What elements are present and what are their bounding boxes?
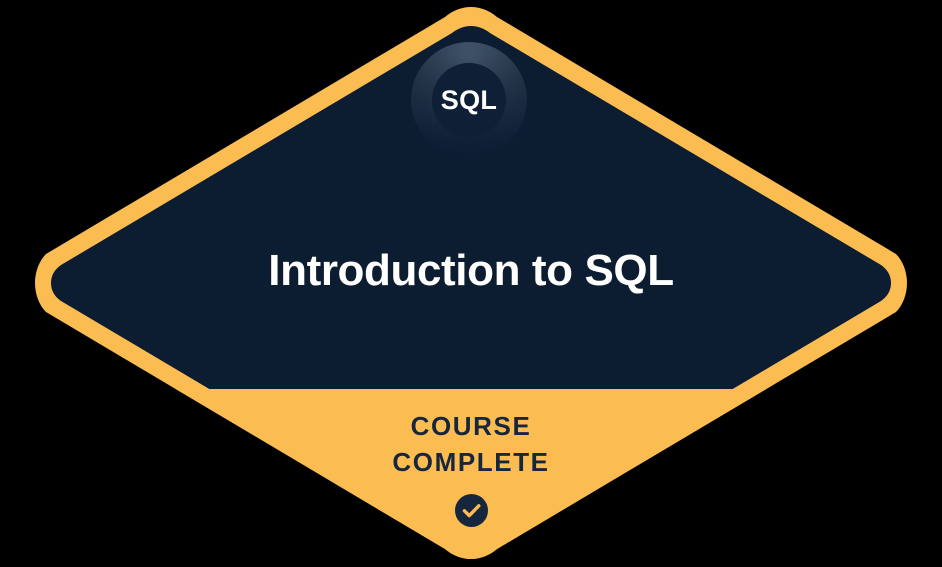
check-circle-icon — [455, 494, 488, 527]
sql-emblem-label: SQL — [410, 41, 528, 159]
status-line-course: COURSE — [0, 408, 942, 444]
course-completion-badge[interactable]: SQL Introduction to SQL COURSE COMPLETE — [0, 0, 942, 567]
sql-emblem: SQL — [410, 41, 528, 159]
course-title: Introduction to SQL — [0, 243, 942, 299]
completion-status: COURSE COMPLETE — [0, 408, 942, 527]
status-line-complete: COMPLETE — [0, 444, 942, 480]
